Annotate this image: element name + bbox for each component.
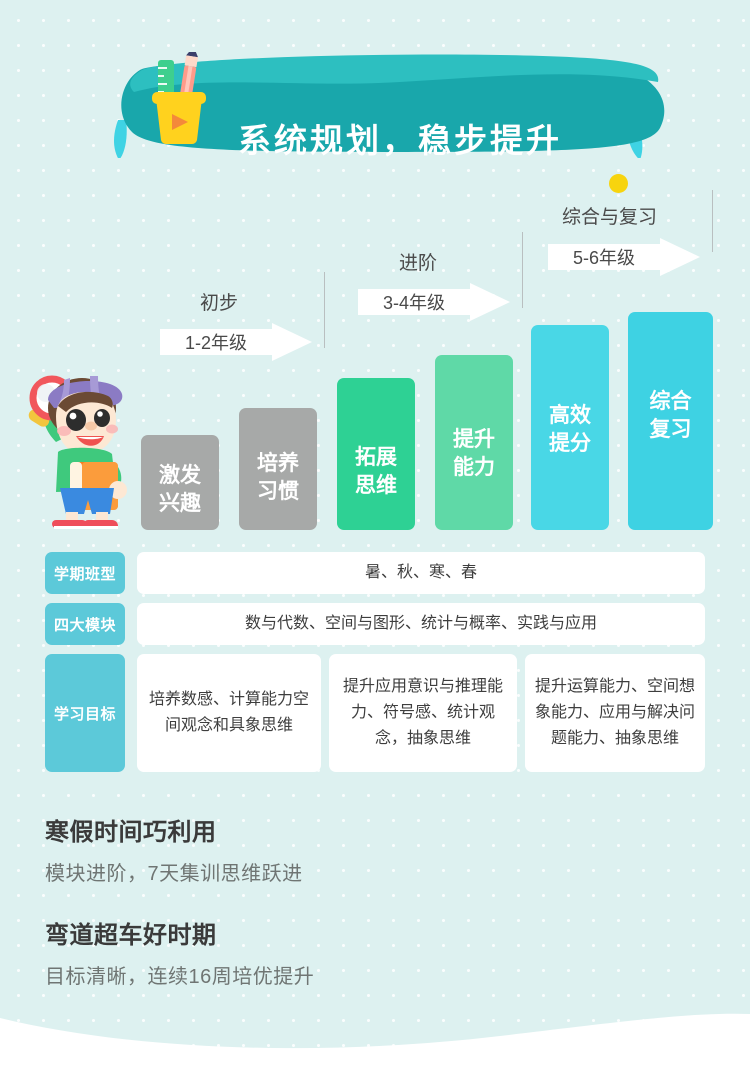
pencil-cup-icon bbox=[142, 52, 222, 148]
table-row: 四大模块 数与代数、空间与图形、统计与概率、实践与应用 bbox=[45, 603, 705, 645]
stage-name-3: 综合与复习 bbox=[562, 206, 657, 230]
highlight-subtitle-1: 模块进阶，7天集训思维跃进 bbox=[45, 857, 303, 886]
row-cell-3-3: 提升运算能力、空间想象能力、应用与解决问题能力、抽象思维 bbox=[525, 654, 705, 772]
row-label-1: 学期班型 bbox=[45, 552, 125, 594]
row-cell-3-2: 提升应用意识与推理能力、符号感、统计观念，抽象思维 bbox=[329, 654, 517, 772]
bar-4-line-2: 能力 bbox=[435, 454, 513, 482]
swoosh-icon bbox=[114, 120, 127, 158]
bar-2-line-1: 培养 bbox=[239, 450, 317, 478]
stage-name-1: 初步 bbox=[200, 292, 238, 316]
yellow-dot-icon bbox=[609, 174, 628, 193]
stage-name-2: 进阶 bbox=[399, 252, 437, 276]
bar-4-line-1: 提升 bbox=[435, 426, 513, 454]
highlight-subtitle-2: 目标清晰，连续16周培优提升 bbox=[45, 960, 314, 989]
banner-title: 系统规划，稳步提升 bbox=[215, 121, 585, 161]
bar-1-line-2: 兴趣 bbox=[141, 490, 219, 518]
highlight-title-1: 寒假时间巧利用 bbox=[45, 812, 217, 847]
stage-divider bbox=[324, 272, 325, 348]
bar-6: 综合 复习 bbox=[628, 312, 713, 530]
stage-divider bbox=[522, 232, 523, 308]
stage-divider bbox=[712, 190, 713, 252]
bar-3-line-2: 思维 bbox=[337, 472, 415, 500]
bar-6-line-1: 综合 bbox=[628, 388, 713, 416]
bar-3: 拓展 思维 bbox=[337, 378, 415, 530]
table-row: 学习目标 培养数感、计算能力空间观念和具象思维 提升应用意识与推理能力、符号感、… bbox=[45, 654, 705, 772]
bar-3-line-1: 拓展 bbox=[337, 444, 415, 472]
promo-page: 系统规划，稳步提升 初步 1-2年级 进阶 3-4年级 综合与复习 5-6年级 … bbox=[0, 0, 750, 1076]
stage-grades-2: 3-4年级 bbox=[358, 283, 470, 323]
stage-arrow-1: 1-2年级 bbox=[160, 323, 312, 366]
stage-arrow-3: 5-6年级 bbox=[548, 238, 700, 281]
bar-5: 高效 提分 bbox=[531, 325, 609, 530]
bar-2: 培养 习惯 bbox=[239, 408, 317, 530]
row-cell-2-1: 数与代数、空间与图形、统计与概率、实践与应用 bbox=[137, 603, 705, 645]
highlight-title-2: 弯道超车好时期 bbox=[45, 915, 217, 950]
row-cell-1-1: 暑、秋、寒、春 bbox=[137, 552, 705, 594]
row-label-2: 四大模块 bbox=[45, 603, 125, 645]
bar-5-line-2: 提分 bbox=[531, 430, 609, 458]
header-banner: 系统规划，稳步提升 bbox=[0, 48, 750, 158]
boy-with-magnifier-icon bbox=[12, 368, 136, 534]
row-label-3: 学习目标 bbox=[45, 654, 125, 772]
bar-6-line-2: 复习 bbox=[628, 416, 713, 444]
stage-grades-1: 1-2年级 bbox=[160, 323, 272, 363]
bar-1-line-1: 激发 bbox=[141, 462, 219, 490]
row-cell-3-1: 培养数感、计算能力空间观念和具象思维 bbox=[137, 654, 321, 772]
stage-arrow-2: 3-4年级 bbox=[358, 283, 510, 326]
bar-1: 激发 兴趣 bbox=[141, 435, 219, 530]
bar-2-line-2: 习惯 bbox=[239, 478, 317, 506]
stage-grades-3: 5-6年级 bbox=[548, 238, 660, 278]
bar-5-line-1: 高效 bbox=[531, 402, 609, 430]
bar-4: 提升 能力 bbox=[435, 355, 513, 530]
table-row: 学期班型 暑、秋、寒、春 bbox=[45, 552, 705, 594]
